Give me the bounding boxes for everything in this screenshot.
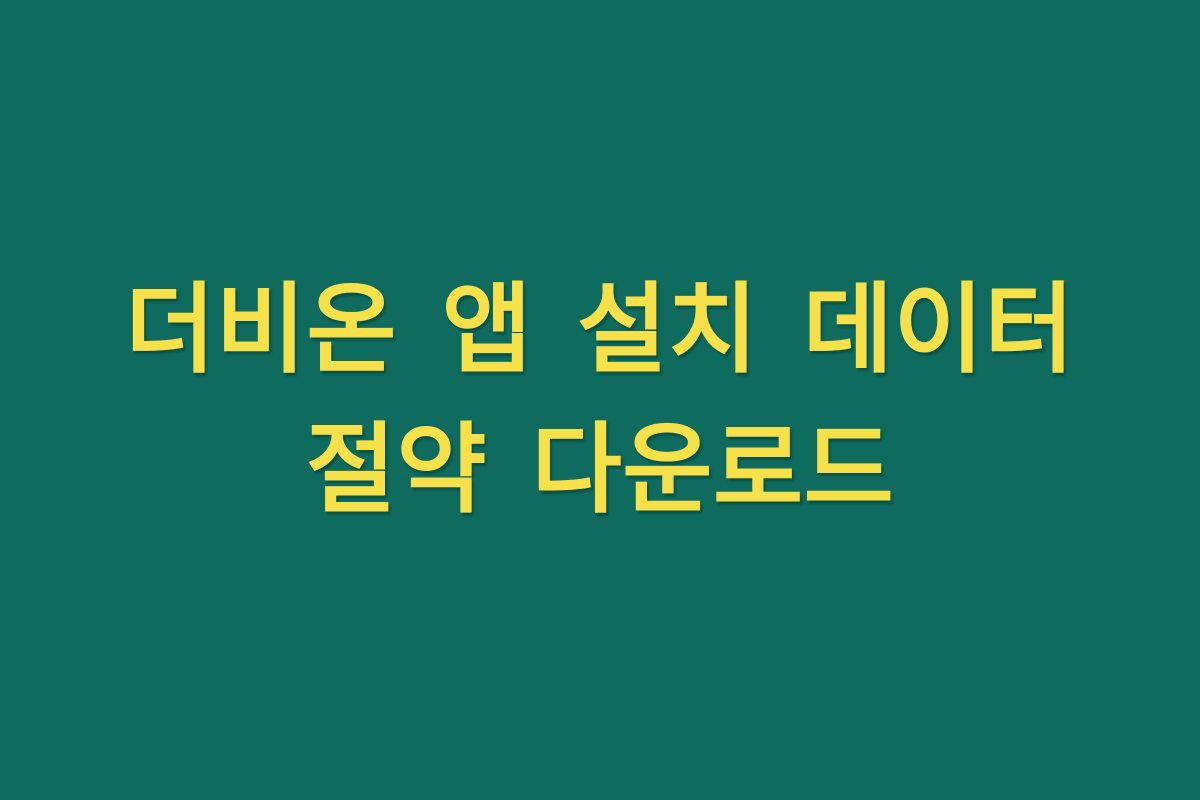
page-title: 더비온 앱 설치 데이터 절약 다운로드 [85, 260, 1115, 540]
banner-canvas: 더비온 앱 설치 데이터 절약 다운로드 [0, 0, 1200, 800]
